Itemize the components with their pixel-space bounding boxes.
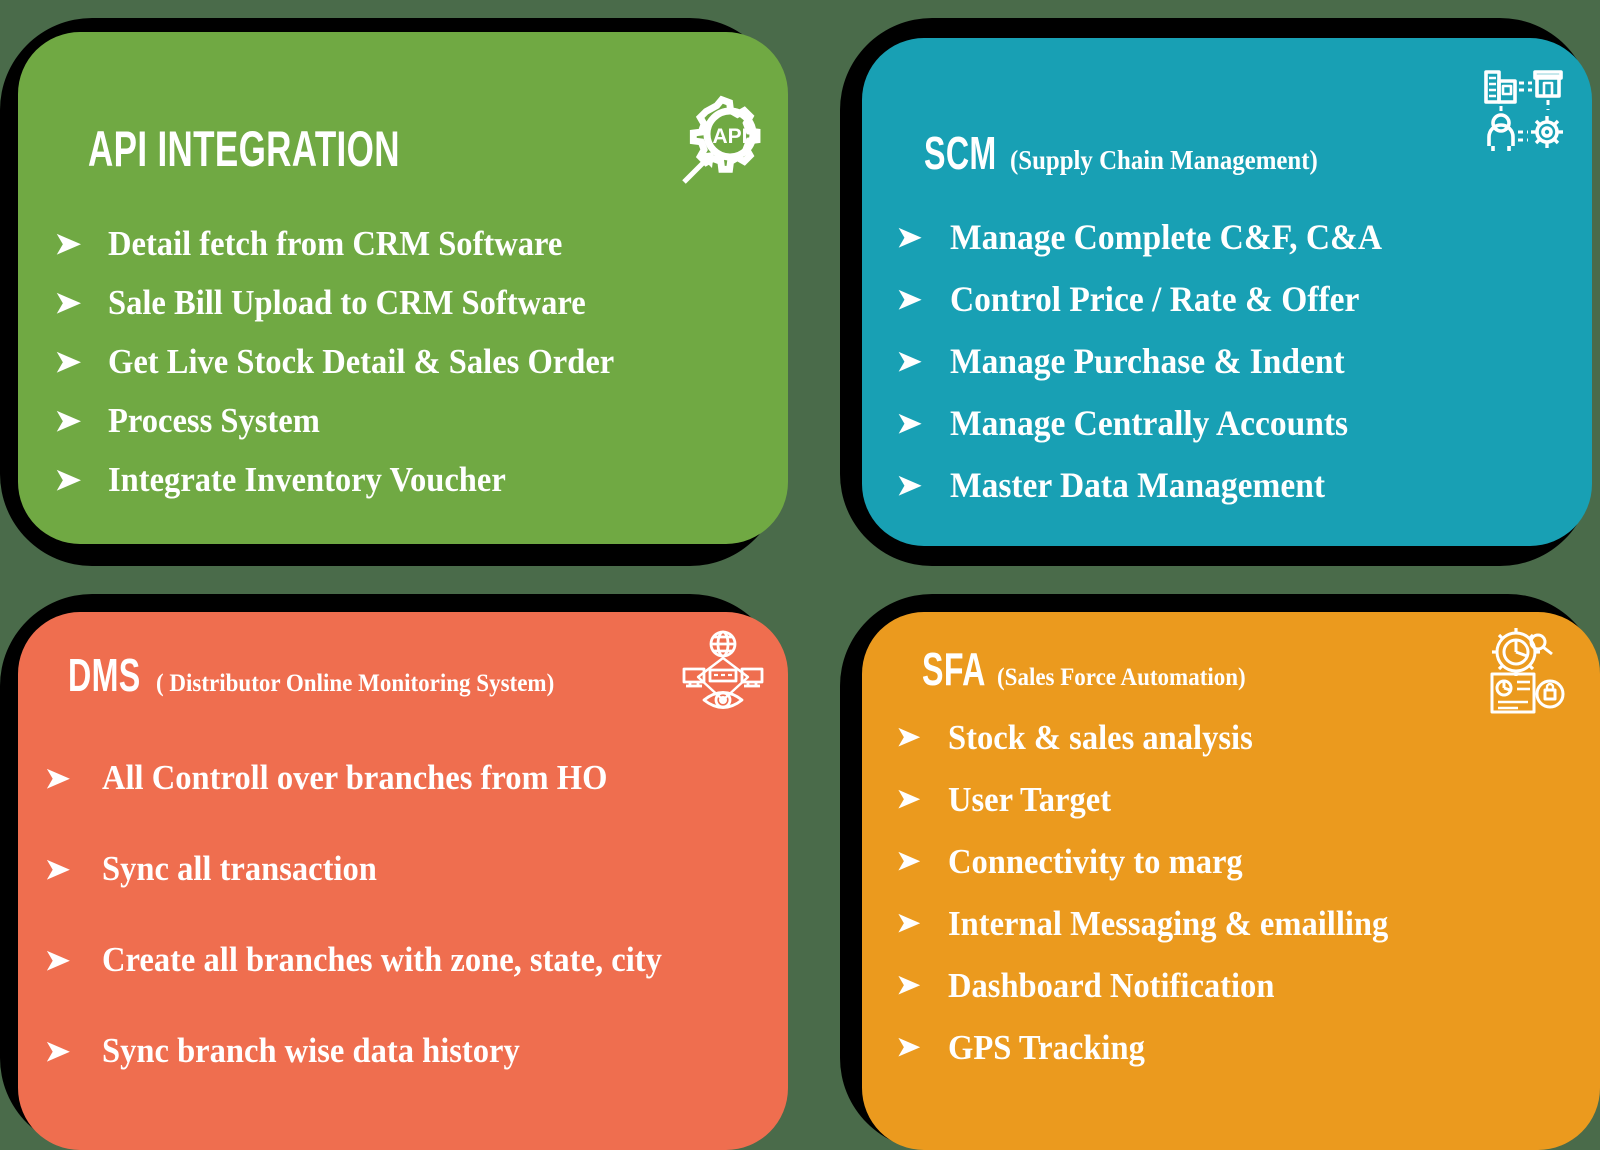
card-subtitle: (Sales Force Automation) — [997, 665, 1246, 690]
list-item-label: Internal Messaging & emailling — [948, 906, 1388, 941]
sales-analytics-icon — [1462, 620, 1572, 720]
chevron-right-icon: ➤ — [54, 288, 103, 318]
list-item[interactable]: ➤ Sync branch wise data history — [40, 1005, 704, 1096]
card-header: DMS ( Distributor Online Monitoring Syst… — [68, 652, 589, 698]
card-header: SFA (Sales Force Automation) — [922, 646, 1267, 692]
list-item[interactable]: ➤ Sync all transaction — [40, 823, 704, 914]
list-item[interactable]: ➤ Manage Centrally Accounts — [892, 392, 1415, 454]
list-item-label: Sale Bill Upload to CRM Software — [108, 285, 586, 320]
list-item-label: Manage Centrally Accounts — [950, 405, 1348, 441]
chevron-right-icon: ➤ — [45, 1036, 98, 1064]
card-surface: SFA (Sales Force Automation) — [862, 612, 1600, 1150]
feature-cards-canvas: API INTEGRATION API ➤ — [0, 0, 1600, 1150]
chevron-right-icon: ➤ — [896, 786, 944, 813]
feature-list-api: ➤ Detail fetch from CRM Software ➤ Sale … — [50, 214, 652, 509]
chevron-right-icon: ➤ — [896, 409, 945, 437]
list-item[interactable]: ➤ Manage Complete C&F, C&A — [892, 206, 1415, 268]
list-item-label: Integrate Inventory Voucher — [108, 462, 506, 497]
card-sfa[interactable]: SFA (Sales Force Automation) — [832, 590, 1600, 1150]
card-api-integration[interactable]: API INTEGRATION API ➤ — [0, 0, 800, 580]
chevron-right-icon: ➤ — [45, 854, 98, 882]
list-item-label: Manage Complete C&F, C&A — [950, 219, 1382, 255]
chevron-right-icon: ➤ — [896, 848, 944, 875]
list-item[interactable]: ➤ Process System — [50, 391, 652, 450]
list-item-label: Dashboard Notification — [948, 968, 1274, 1003]
chevron-right-icon: ➤ — [54, 465, 103, 495]
chevron-right-icon: ➤ — [896, 347, 945, 375]
list-item-label: Detail fetch from CRM Software — [108, 226, 562, 261]
chevron-right-icon: ➤ — [896, 223, 945, 251]
chevron-right-icon: ➤ — [54, 229, 103, 259]
card-scm[interactable]: SCM (Supply Chain Management) — [832, 0, 1600, 580]
list-item[interactable]: ➤ User Target — [892, 768, 1421, 830]
card-header: SCM (Supply Chain Management) — [924, 130, 1344, 176]
card-title: SFA — [922, 646, 986, 692]
chevron-right-icon: ➤ — [896, 285, 945, 313]
list-item[interactable]: ➤ Internal Messaging & emailling — [892, 892, 1421, 954]
list-item-label: Sync all transaction — [102, 851, 377, 886]
list-item-label: Process System — [108, 403, 320, 438]
list-item[interactable]: ➤ All Controll over branches from HO — [40, 732, 704, 823]
chevron-right-icon: ➤ — [54, 347, 103, 377]
chevron-right-icon: ➤ — [896, 471, 945, 499]
list-item-label: Manage Purchase & Indent — [950, 343, 1345, 379]
list-item[interactable]: ➤ Integrate Inventory Voucher — [50, 450, 652, 509]
chevron-right-icon: ➤ — [896, 1034, 944, 1061]
chevron-right-icon: ➤ — [896, 724, 944, 751]
chevron-right-icon: ➤ — [896, 972, 944, 999]
list-item-label: All Controll over branches from HO — [102, 760, 607, 795]
list-item-label: User Target — [948, 782, 1111, 817]
feature-list-scm: ➤ Manage Complete C&F, C&A ➤ Control Pri… — [892, 206, 1415, 516]
card-surface: SCM (Supply Chain Management) — [862, 38, 1592, 546]
card-header: API INTEGRATION — [88, 124, 533, 174]
feature-list-dms: ➤ All Controll over branches from HO ➤ S… — [40, 732, 704, 1096]
card-subtitle: ( Distributor Online Monitoring System) — [156, 671, 554, 696]
card-surface: DMS ( Distributor Online Monitoring Syst… — [18, 612, 788, 1150]
list-item[interactable]: ➤ GPS Tracking — [892, 1016, 1421, 1078]
list-item-label: Create all branches with zone, state, ci… — [102, 942, 662, 977]
list-item[interactable]: ➤ Get Live Stock Detail & Sales Order — [50, 332, 652, 391]
svg-text:API: API — [712, 125, 747, 148]
list-item-label: Stock & sales analysis — [948, 720, 1253, 755]
list-item[interactable]: ➤ Control Price / Rate & Offer — [892, 268, 1415, 330]
chevron-right-icon: ➤ — [45, 763, 98, 791]
card-subtitle: (Supply Chain Management) — [1010, 147, 1318, 174]
chevron-right-icon: ➤ — [896, 910, 944, 937]
list-item[interactable]: ➤ Detail fetch from CRM Software — [50, 214, 652, 273]
feature-list-sfa: ➤ Stock & sales analysis ➤ User Target ➤… — [892, 706, 1421, 1078]
list-item-label: Connectivity to marg — [948, 844, 1243, 879]
list-item[interactable]: ➤ Create all branches with zone, state, … — [40, 914, 704, 1005]
card-dms[interactable]: DMS ( Distributor Online Monitoring Syst… — [0, 590, 800, 1150]
list-item[interactable]: ➤ Manage Purchase & Indent — [892, 330, 1415, 392]
list-item-label: Sync branch wise data history — [102, 1033, 520, 1068]
list-item-label: Control Price / Rate & Offer — [950, 281, 1359, 317]
card-title: API INTEGRATION — [88, 124, 400, 174]
api-gear-icon: API — [668, 90, 768, 190]
list-item[interactable]: ➤ Master Data Management — [892, 454, 1415, 516]
list-item[interactable]: ➤ Sale Bill Upload to CRM Software — [50, 273, 652, 332]
supply-chain-icon — [1462, 50, 1572, 160]
list-item[interactable]: ➤ Stock & sales analysis — [892, 706, 1421, 768]
list-item[interactable]: ➤ Connectivity to marg — [892, 830, 1421, 892]
card-title: SCM — [924, 130, 997, 176]
chevron-right-icon: ➤ — [45, 945, 98, 973]
list-item[interactable]: ➤ Dashboard Notification — [892, 954, 1421, 1016]
list-item-label: GPS Tracking — [948, 1030, 1145, 1065]
list-item-label: Get Live Stock Detail & Sales Order — [108, 344, 614, 379]
card-surface: API INTEGRATION API ➤ — [18, 32, 788, 544]
card-title: DMS — [68, 652, 141, 698]
network-monitoring-icon — [678, 622, 768, 722]
chevron-right-icon: ➤ — [54, 406, 103, 436]
list-item-label: Master Data Management — [950, 467, 1325, 503]
